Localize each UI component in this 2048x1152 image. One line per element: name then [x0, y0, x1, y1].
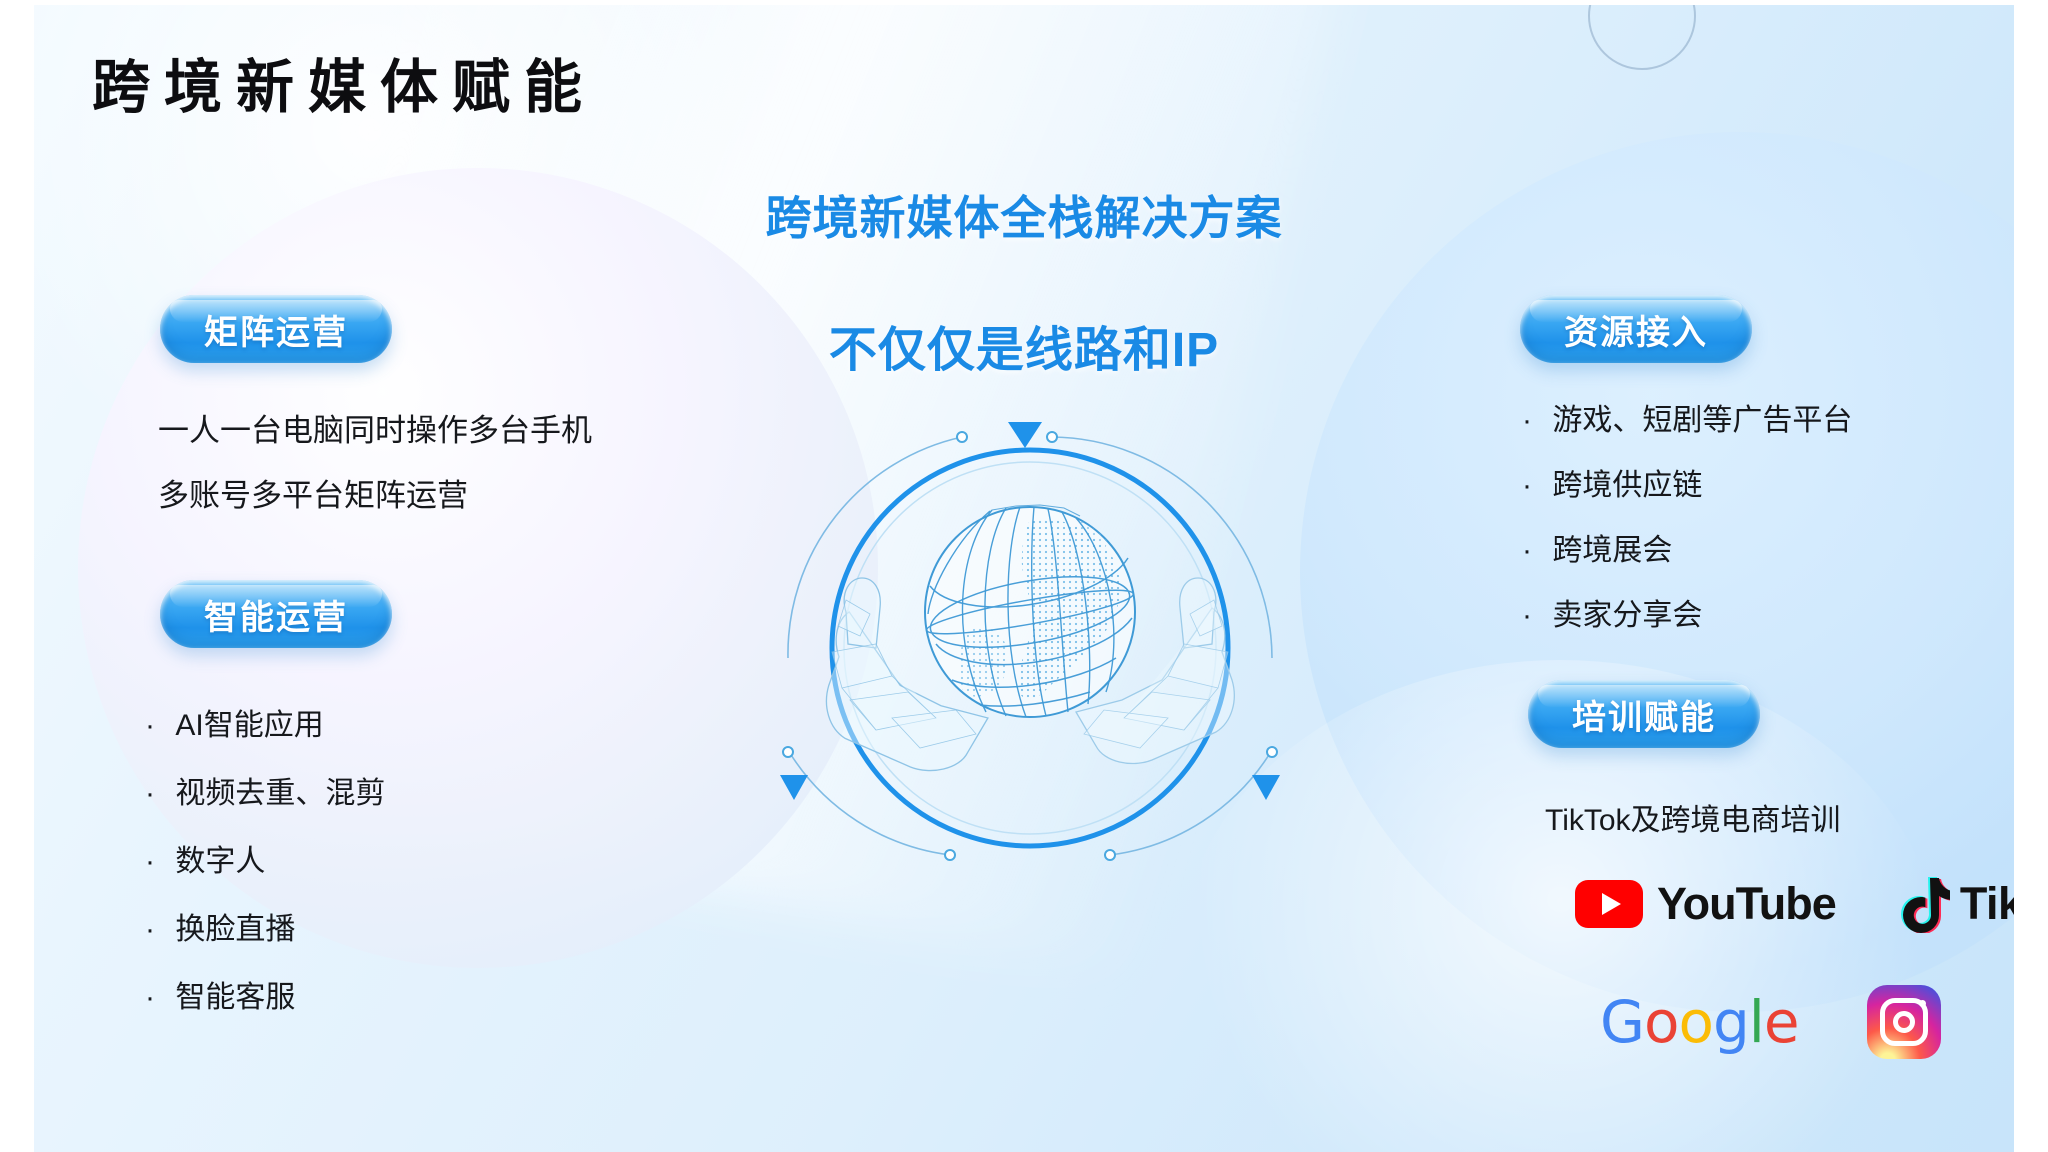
instagram-lens-dot-icon — [1919, 1000, 1926, 1007]
google-letter-g1: G — [1600, 988, 1644, 1056]
google-letter-l: l — [1749, 988, 1764, 1056]
google-logo[interactable]: Google — [1600, 988, 1799, 1056]
frame-edge-top — [0, 0, 2048, 5]
google-letter-o2: o — [1678, 988, 1713, 1056]
list-item-label: 多账号多平台矩阵运营 — [158, 478, 468, 513]
pill-label: 培训赋能 — [1572, 690, 1716, 739]
bullet-icon: · — [1522, 599, 1532, 632]
bullet-icon: · — [145, 913, 155, 946]
list-item: · 跨境供应链 — [1522, 460, 1702, 504]
google-letter-g2: g — [1713, 988, 1749, 1056]
list-item-label: 跨境展会 — [1552, 534, 1672, 567]
decorative-circle-icon — [1588, 0, 1696, 70]
list-item-label: AI智能应用 — [175, 709, 323, 742]
bullet-icon: · — [145, 709, 155, 742]
pill-matrix-operation[interactable]: 矩阵运营 — [160, 295, 392, 363]
bullet-icon: · — [145, 981, 155, 1014]
triangle-top-icon — [1008, 422, 1042, 448]
tiktok-note-icon — [1898, 875, 1950, 933]
logo-row-top: YouTube TikTok — [1575, 875, 2048, 933]
pill-label: 智能运营 — [204, 590, 348, 639]
list-item-label: 卖家分享会 — [1552, 599, 1702, 632]
logo-row-bottom: Google — [1600, 985, 1941, 1059]
list-item-label: 视频去重、混剪 — [175, 777, 385, 810]
pill-label: 矩阵运营 — [204, 305, 348, 354]
pill-smart-operation[interactable]: 智能运营 — [160, 580, 392, 648]
bullet-icon: · — [145, 845, 155, 878]
youtube-label: YouTube — [1657, 878, 1836, 930]
google-letter-o1: o — [1644, 988, 1679, 1056]
bullet-icon: · — [1522, 404, 1532, 437]
list-item-label: 换脸直播 — [175, 913, 295, 946]
wireframe-globe — [925, 505, 1136, 717]
list-item: · 智能客服 — [145, 972, 295, 1016]
list-item: · 数字人 — [145, 836, 265, 880]
list-item: · 视频去重、混剪 — [145, 768, 385, 812]
page-title: 跨境新媒体赋能 — [92, 40, 596, 124]
training-caption: TikTok及跨境电商培训 — [1545, 795, 1841, 839]
list-item: · 跨境展会 — [1522, 525, 1672, 569]
pill-label: 资源接入 — [1564, 305, 1708, 354]
bullet-icon: · — [1522, 534, 1532, 567]
list-item-label: 数字人 — [175, 845, 265, 878]
globe-in-hands-illustration — [780, 400, 1280, 900]
youtube-play-icon — [1575, 880, 1643, 928]
list-item-label: 一人一台电脑同时操作多台手机 — [158, 413, 592, 448]
list-item: 一人一台电脑同时操作多台手机 — [158, 405, 592, 450]
frame-edge-right — [2014, 0, 2048, 1152]
list-item: 多账号多平台矩阵运营 — [158, 470, 468, 515]
list-item: · 游戏、短剧等广告平台 — [1522, 395, 1852, 439]
list-item-label: 智能客服 — [175, 981, 295, 1014]
google-letter-e: e — [1764, 988, 1799, 1056]
list-item: · 换脸直播 — [145, 904, 295, 948]
pill-training-empowerment[interactable]: 培训赋能 — [1528, 680, 1760, 748]
list-item: · 卖家分享会 — [1522, 590, 1702, 634]
pill-resource-access[interactable]: 资源接入 — [1520, 295, 1752, 363]
list-item-label: 跨境供应链 — [1552, 469, 1702, 502]
bullet-icon: · — [145, 777, 155, 810]
list-item: · AI智能应用 — [145, 700, 324, 744]
youtube-logo[interactable]: YouTube — [1575, 878, 1836, 930]
triangle-bottom-left-icon — [780, 775, 808, 800]
list-item-label: 游戏、短剧等广告平台 — [1552, 404, 1852, 437]
bullet-icon: · — [1522, 469, 1532, 502]
instagram-logo[interactable] — [1867, 985, 1941, 1059]
triangle-bottom-right-icon — [1252, 775, 1280, 800]
frame-edge-left — [0, 0, 34, 1152]
slide-root: 跨境新媒体赋能 跨境新媒体全栈解决方案 不仅仅是线路和IP 矩阵运营 一人一台电… — [0, 0, 2048, 1152]
headline-primary: 跨境新媒体全栈解决方案 — [0, 182, 2048, 248]
